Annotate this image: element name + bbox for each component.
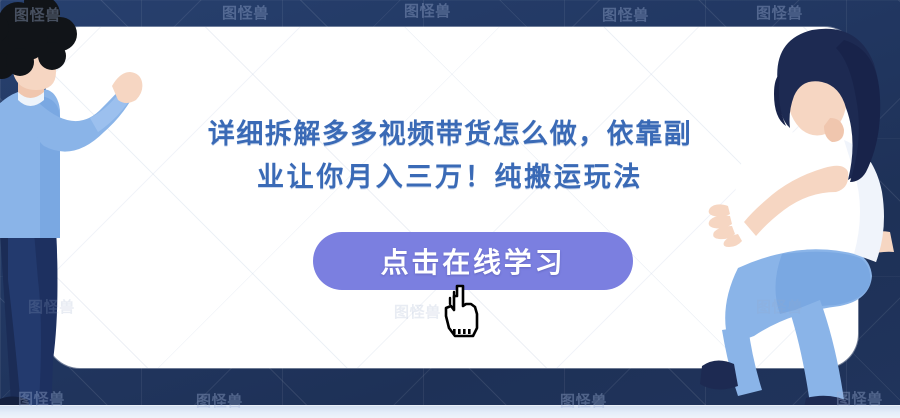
bottom-highlight-strip — [0, 405, 900, 418]
headline: 详细拆解多多视频带货怎么做，依靠副 业让你月入三万！纯搬运玩法 — [140, 113, 760, 198]
click-to-learn-online-button[interactable]: 点击在线学习 — [313, 232, 633, 290]
promo-banner: 详细拆解多多视频带货怎么做，依靠副 业让你月入三万！纯搬运玩法 点击在线学习 图… — [0, 0, 900, 418]
headline-line-2: 业让你月入三万！纯搬运玩法 — [140, 156, 760, 199]
headline-line-1: 详细拆解多多视频带货怎么做，依靠副 — [140, 113, 760, 156]
